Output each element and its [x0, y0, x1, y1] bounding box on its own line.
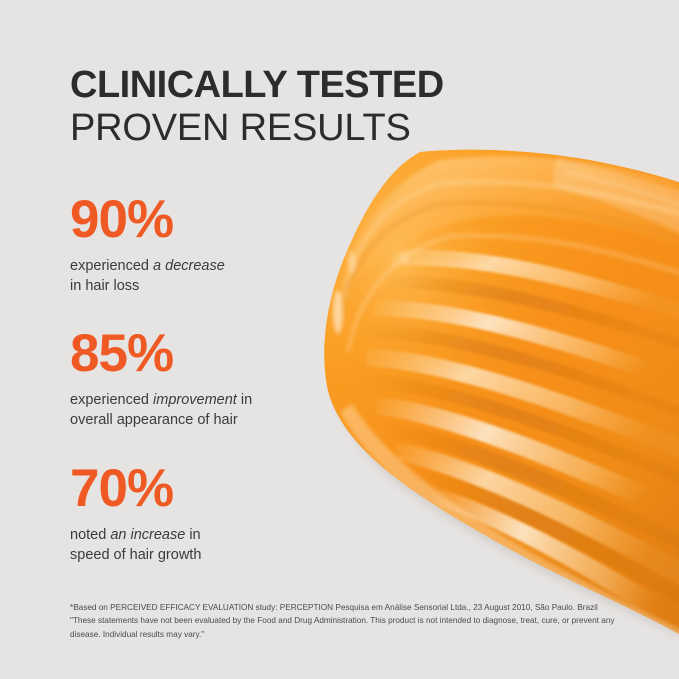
stat-block-appearance: 85% experienced improvement in overall a…	[70, 326, 252, 431]
stat-desc-line2: overall appearance of hair	[70, 412, 238, 428]
headline-line-1: CLINICALLY TESTED	[70, 66, 444, 104]
stat-value: 90%	[70, 192, 225, 248]
stat-desc-prefix: noted	[70, 527, 110, 543]
stat-desc-line2: speed of hair growth	[70, 547, 201, 563]
stat-desc-emphasis: improvement	[153, 392, 237, 408]
stat-desc-emphasis: a decrease	[153, 258, 225, 274]
page-title: CLINICALLY TESTED PROVEN RESULTS	[70, 66, 444, 147]
stat-description: experienced improvement in overall appea…	[70, 390, 252, 431]
stat-value: 70%	[70, 461, 201, 517]
stat-desc-line2: in hair loss	[70, 278, 139, 294]
stat-desc-emphasis: an increase	[110, 527, 185, 543]
stat-desc-prefix: experienced	[70, 392, 153, 408]
swatch-glassy-tail	[552, 158, 679, 238]
stat-desc-suffix: in	[237, 392, 252, 408]
disclaimer: *Based on PERCEIVED EFFICACY EVALUATION …	[70, 601, 630, 641]
stat-value: 85%	[70, 326, 252, 382]
stat-desc-prefix: experienced	[70, 258, 153, 274]
stat-description: noted an increase in speed of hair growt…	[70, 525, 201, 566]
stat-block-growth-speed: 70% noted an increase in speed of hair g…	[70, 461, 201, 566]
swatch-shadow	[330, 159, 679, 646]
stat-desc-suffix: in	[185, 527, 200, 543]
stat-block-hair-loss: 90% experienced a decrease in hair loss	[70, 192, 225, 297]
swatch-body	[298, 130, 679, 679]
disclaimer-study-line: *Based on PERCEIVED EFFICACY EVALUATION …	[70, 601, 630, 614]
headline-line-2: PROVEN RESULTS	[70, 109, 444, 147]
poster-canvas: CLINICALLY TESTED PROVEN RESULTS 90% exp…	[0, 0, 679, 679]
disclaimer-fda-line: "These statements have not been evaluate…	[70, 614, 630, 641]
stat-description: experienced a decrease in hair loss	[70, 256, 225, 297]
